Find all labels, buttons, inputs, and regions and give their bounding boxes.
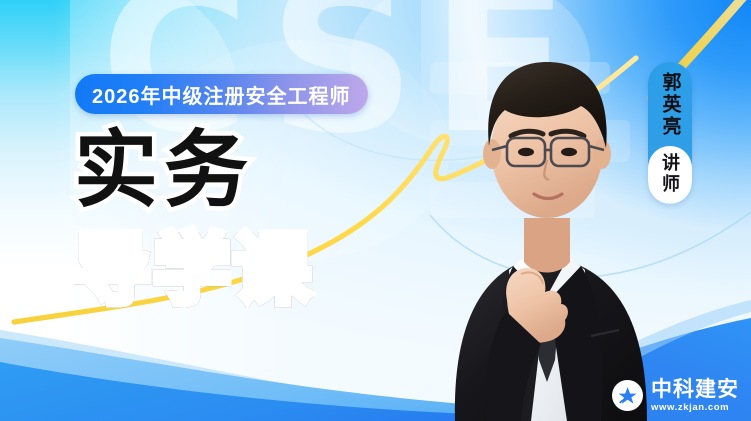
- ear-left: [483, 139, 501, 169]
- course-promo-banner: CSE: [0, 0, 751, 421]
- headline-group: 实务 导学课: [74, 128, 314, 308]
- brand-name: 中科建安: [651, 379, 739, 400]
- neck: [524, 218, 570, 273]
- eye-right: [561, 148, 577, 156]
- instructor-role: 讲师: [661, 153, 679, 195]
- brand-url: www.zkjan.com: [651, 403, 739, 413]
- instructor-role-pill: 讲师: [648, 146, 692, 204]
- star-mountain-logo-icon: [612, 380, 643, 411]
- brand-logo: 中科建安 www.zkjan.com: [612, 379, 739, 413]
- headline-line-1: 实务: [74, 128, 314, 212]
- brand-logo-text: 中科建安 www.zkjan.com: [651, 379, 739, 413]
- course-badge: 2026年中级注册安全工程师: [75, 74, 368, 114]
- eye-left: [518, 148, 534, 156]
- instructor-portrait: [395, 0, 695, 421]
- headline-line-2: 导学课: [74, 232, 314, 308]
- instructor-name-tag: 郭英亮 讲师: [648, 62, 692, 204]
- instructor-name: 郭英亮: [661, 70, 680, 146]
- ear-right: [593, 139, 611, 169]
